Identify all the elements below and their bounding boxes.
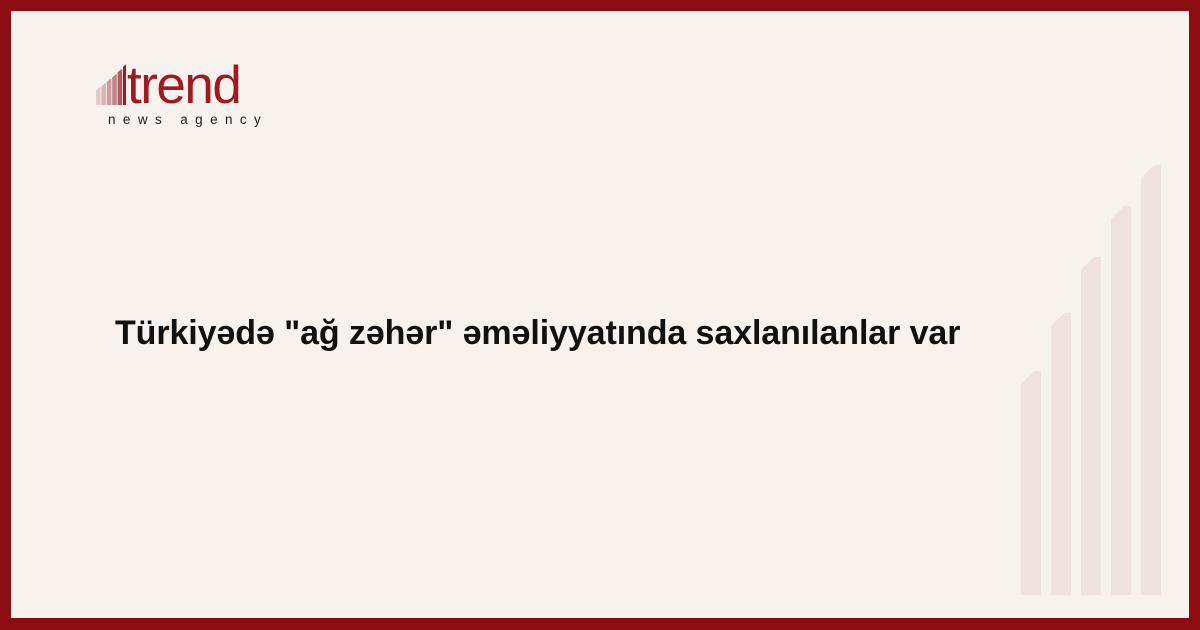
trend-bars-watermark-icon <box>1021 165 1167 595</box>
social-share-card: trend news agency Türkiyədə "ağ zəhər" ə… <box>0 0 1200 630</box>
logo-wordmark: trend <box>127 64 240 108</box>
headline-text: Türkiyədə "ağ zəhər" əməliyyatında saxla… <box>115 311 1105 356</box>
logo-mark-row: trend <box>96 51 281 105</box>
brand-logo: trend news agency <box>96 51 281 127</box>
trend-bars-icon <box>96 61 126 105</box>
card-content-area: trend news agency Türkiyədə "ağ zəhər" ə… <box>11 11 1189 618</box>
